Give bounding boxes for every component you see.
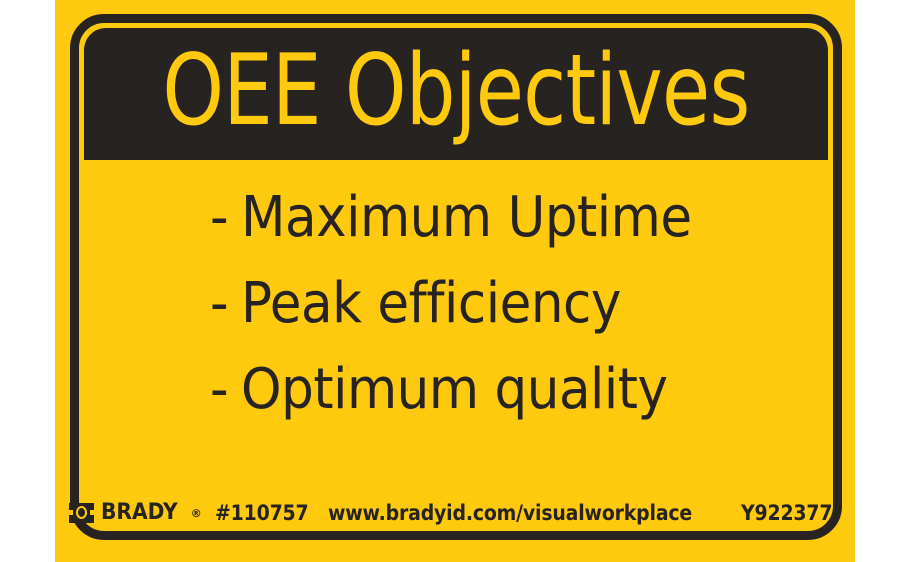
sign-code: Y922377 [741,503,832,524]
footer-content: BRADY ® #110757 www.bradyid.com/visualwo… [69,502,842,524]
brady-logo-notch-right [90,510,94,515]
sign-footer: BRADY ® #110757 www.bradyid.com/visualwo… [84,498,828,528]
safety-sign-panel: OEE Objectives - Maximum Uptime - Peak e… [55,0,855,562]
brady-logo-ring [76,506,87,519]
brand-url: www.bradyid.com/visualworkplace [328,503,692,524]
part-number: #110757 [215,503,308,524]
list-item: - Optimum quality [210,347,779,433]
list-item: - Peak efficiency [210,261,779,347]
brady-logo-notch-left [69,510,73,515]
sign-title: OEE Objectives [162,42,749,146]
objective-label: Peak efficiency [241,261,621,347]
objective-label: Optimum quality [241,347,668,433]
sign-header-band: OEE Objectives [84,28,828,160]
brady-logo-icon [69,503,94,523]
list-item: - Maximum Uptime [210,175,779,261]
page-canvas: OEE Objectives - Maximum Uptime - Peak e… [0,0,912,562]
brand-wordmark: BRADY [101,502,178,524]
bullet-dash: - [210,261,228,347]
registered-trademark-icon: ® [191,508,202,519]
bullet-dash: - [210,347,228,433]
objectives-list: - Maximum Uptime - Peak efficiency - Opt… [84,175,828,465]
bullet-dash: - [210,175,228,261]
objective-label: Maximum Uptime [241,175,692,261]
